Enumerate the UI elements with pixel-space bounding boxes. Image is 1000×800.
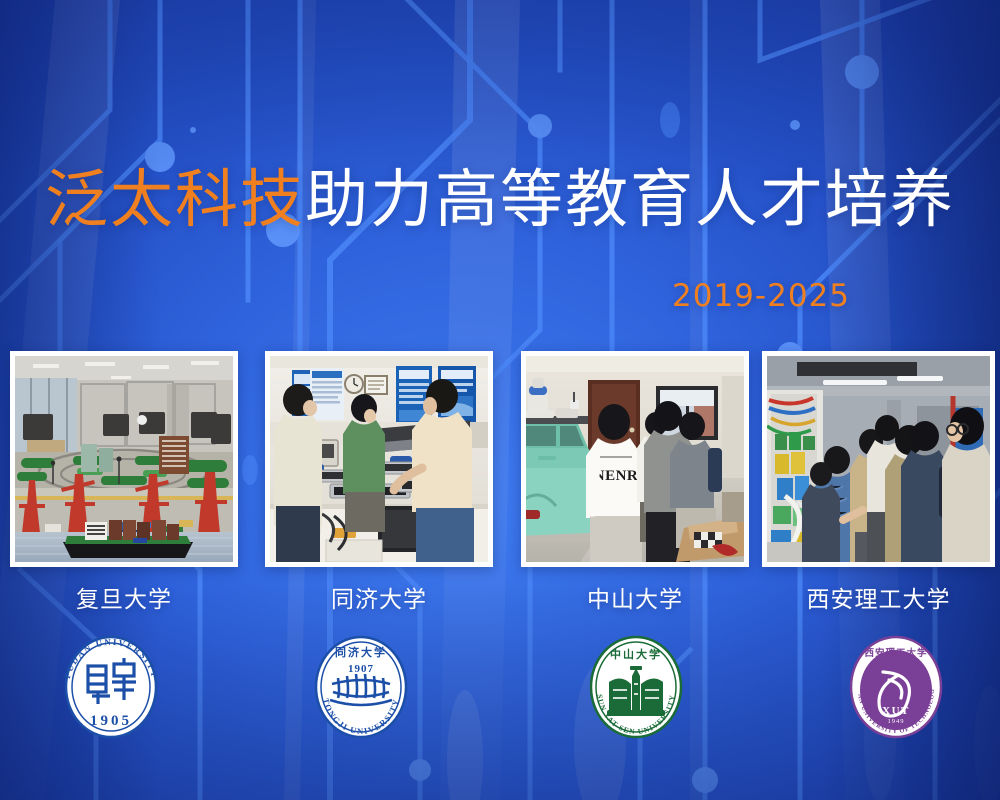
svg-text:1907: 1907 xyxy=(348,663,374,675)
photo-automation-equipment-demo xyxy=(767,356,990,562)
title-tagline-text: 助力高等教育人才培养 xyxy=(305,163,955,236)
photo-card-xut[interactable] xyxy=(762,351,995,567)
photo-smart-city-port-model xyxy=(15,356,233,562)
xian-university-of-technology-logo: 西安理工大学 XUT 1949 XI'AN UNIVERSITY OF TECH… xyxy=(837,628,955,746)
photo-autonomous-vehicle: NENR xyxy=(526,356,744,562)
university-label-sysu: 中山大学 xyxy=(521,580,749,614)
tongji-university-logo: 同济大学 1907 TONGJI UNIVERSITY xyxy=(302,628,420,746)
sun-yat-sen-university-logo: 中山大学 SUN YAT-SEN UNIVERSITY xyxy=(577,628,695,746)
page-title: 泛太科技助力高等教育人才培养 xyxy=(0,168,1000,231)
photo-card-tongji[interactable] xyxy=(265,351,493,567)
svg-text:同济大学: 同济大学 xyxy=(335,645,387,659)
svg-text:中山大学: 中山大学 xyxy=(610,647,662,661)
svg-text:1949: 1949 xyxy=(888,718,905,725)
photo-card-row: NENR xyxy=(0,351,1000,567)
svg-text:NENR: NENR xyxy=(594,468,639,484)
university-label-row: 复旦大学 同济大学 中山大学 西安理工大学 xyxy=(0,580,1000,614)
fudan-university-logo: FUDAN UNIVERSITY 1905 xyxy=(52,628,170,746)
title-brand-text: 泛太科技 xyxy=(45,163,305,236)
svg-text:XUT: XUT xyxy=(882,705,910,717)
university-logo-row: FUDAN UNIVERSITY 1905 xyxy=(0,628,1000,746)
title-block: 泛太科技助力高等教育人才培养 xyxy=(0,168,1000,231)
photo-students-lab-benches xyxy=(270,356,488,562)
photo-card-sysu[interactable]: NENR xyxy=(521,351,749,567)
svg-text:1905: 1905 xyxy=(90,713,132,729)
university-label-fudan: 复旦大学 xyxy=(10,580,238,614)
date-range-text: 2019-2025 xyxy=(672,278,850,314)
photo-card-fudan[interactable] xyxy=(10,351,238,567)
presentation-slide: 泛太科技助力高等教育人才培养 2019-2025 xyxy=(0,0,1000,800)
university-label-tongji: 同济大学 xyxy=(265,580,493,614)
university-label-xut: 西安理工大学 xyxy=(762,580,995,614)
svg-text:西安理工大学: 西安理工大学 xyxy=(864,647,927,659)
